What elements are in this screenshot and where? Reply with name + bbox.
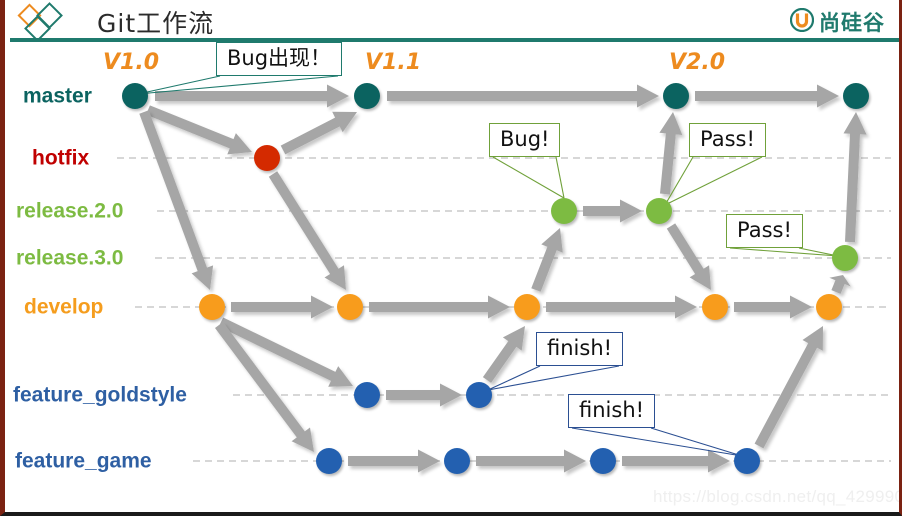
branch-label-develop: develop <box>24 297 103 318</box>
arrow-m1-to-d1 <box>139 110 213 290</box>
arrow-f2-to-f3 <box>476 450 586 473</box>
brand-logo: 尚硅谷 <box>790 7 885 37</box>
callout-bug-appear: Bug出现！ <box>216 42 342 76</box>
commit-node-m4[interactable] <box>843 83 869 109</box>
arrow-h1-to-m2 <box>281 112 357 155</box>
diamonds-logo-icon <box>15 2 77 40</box>
callout-finish-2: finish! <box>568 394 655 428</box>
branch-label-feature_goldstyle: feature_goldstyle <box>13 385 187 406</box>
page-title: Git工作流 <box>97 4 214 40</box>
leader-bug-a <box>493 157 564 198</box>
callout-pass-2: Pass! <box>726 214 803 248</box>
leader-pass-2-a <box>730 248 838 256</box>
arrow-m3-to-m4 <box>695 85 839 108</box>
commit-node-m3[interactable] <box>663 83 689 109</box>
callout-pass-1: Pass! <box>689 123 766 157</box>
arrow-d1-to-d2 <box>231 296 333 319</box>
branch-label-release.3.0: release.3.0 <box>16 248 123 269</box>
commit-node-f2[interactable] <box>444 448 470 474</box>
arrow-f3-to-f4 <box>622 450 730 473</box>
arrow-d4-to-d5 <box>734 296 812 319</box>
commit-node-m2[interactable] <box>354 83 380 109</box>
arrow-m2-to-m3 <box>387 85 659 108</box>
arrow-r21-to-r22 <box>583 200 642 223</box>
slide-header: Git工作流 尚硅谷 <box>5 0 902 42</box>
arrow-f1-to-f2 <box>348 450 440 473</box>
branch-label-release.2.0: release.2.0 <box>16 201 123 222</box>
commit-node-f3[interactable] <box>590 448 616 474</box>
leader-finish-1-b <box>488 366 619 390</box>
arrow-d3-to-r21 <box>531 228 563 292</box>
arrow-d2-to-d3 <box>369 296 510 319</box>
slide-canvas: Git工作流 尚硅谷 masterhotfixrelease.2.0rel <box>0 0 902 516</box>
commit-node-d1[interactable] <box>199 294 225 320</box>
leader-bug-b <box>556 157 564 198</box>
git-workflow-diagram: masterhotfixrelease.2.0release.3.0develo… <box>5 42 902 512</box>
commit-node-d2[interactable] <box>337 294 363 320</box>
arrow-f4-to-d5 <box>755 326 823 448</box>
commit-node-f4[interactable] <box>734 448 760 474</box>
commit-node-d3[interactable] <box>514 294 540 320</box>
watermark: https://blog.csdn.net/qq_42999092 <box>653 487 902 507</box>
commit-node-r22[interactable] <box>646 198 672 224</box>
callout-finish-1: finish! <box>536 332 623 366</box>
commit-node-r31[interactable] <box>832 245 858 271</box>
version-tag-v2-0: V2.0 <box>669 50 725 75</box>
brand-name: 尚硅谷 <box>819 7 885 37</box>
version-tag-v1-0: V1.0 <box>103 50 159 75</box>
commit-node-f1[interactable] <box>316 448 342 474</box>
commit-node-d5[interactable] <box>816 294 842 320</box>
u-logo-icon <box>790 8 814 37</box>
arrow-h1-to-d2 <box>269 171 346 290</box>
commit-node-m1[interactable] <box>122 83 148 109</box>
commit-node-h1[interactable] <box>254 145 280 171</box>
version-tag-v1-1: V1.1 <box>365 50 421 75</box>
branch-label-master: master <box>23 86 92 107</box>
callout-bug: Bug! <box>489 123 560 157</box>
commit-node-g1[interactable] <box>354 382 380 408</box>
arrow-m1-to-m2 <box>155 85 349 108</box>
commit-node-g2[interactable] <box>466 382 492 408</box>
arrow-r31-to-m4 <box>844 112 867 242</box>
leader-finish-2-b <box>651 428 742 456</box>
arrow-d5-to-r31 <box>829 275 850 294</box>
branch-label-feature_game: feature_game <box>15 451 152 472</box>
diagram-vector-layer <box>5 42 902 512</box>
commit-node-d4[interactable] <box>702 294 728 320</box>
arrow-g2-to-d3 <box>483 326 525 383</box>
arrow-r22-to-d4 <box>667 223 711 290</box>
branch-label-hotfix: hotfix <box>32 148 89 169</box>
arrow-d3-to-d4 <box>546 296 697 319</box>
commit-node-r21[interactable] <box>551 198 577 224</box>
arrow-g1-to-g2 <box>386 384 462 407</box>
